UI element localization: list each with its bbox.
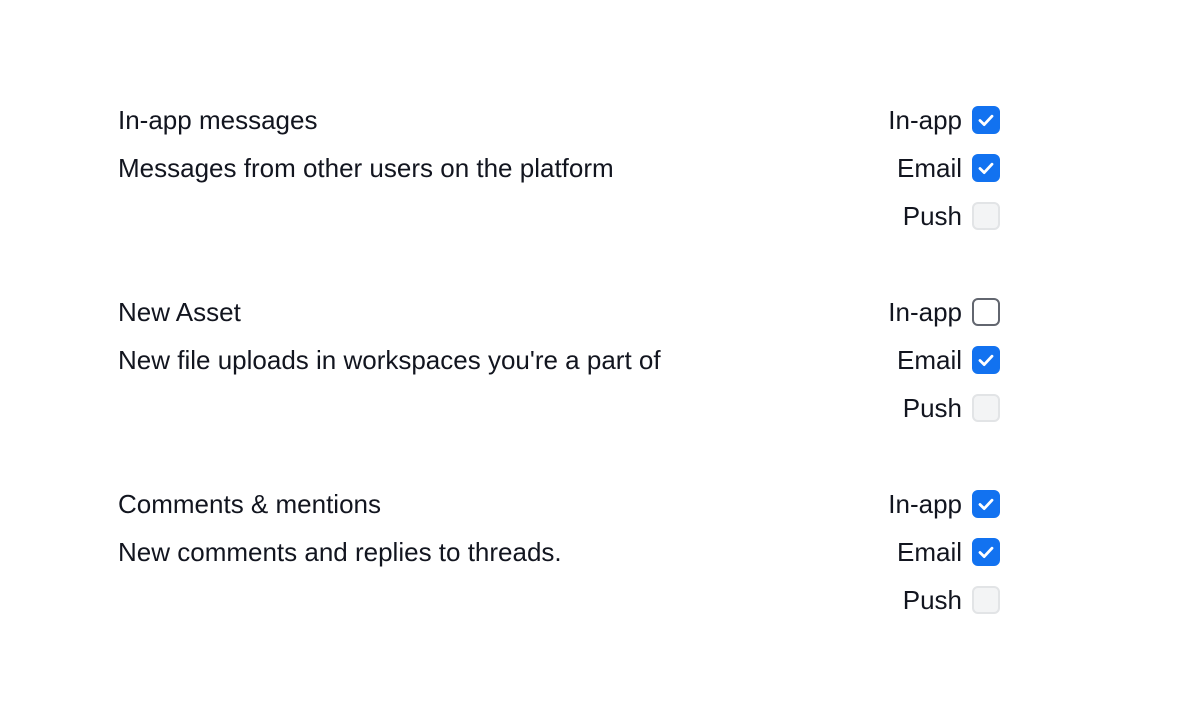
channel-checkbox-push[interactable] — [972, 202, 1000, 230]
channel-checkbox-email[interactable] — [972, 154, 1000, 182]
channel-checkbox-push[interactable] — [972, 586, 1000, 614]
channel-row: Push — [903, 192, 1000, 240]
channel-checkbox-email[interactable] — [972, 538, 1000, 566]
channel-label: Push — [903, 384, 962, 432]
channel-row: In-app — [888, 96, 1000, 144]
channel-label: Email — [897, 336, 962, 384]
channel-row: Email — [897, 336, 1000, 384]
checkmark-icon — [976, 350, 996, 370]
channel-label: Push — [903, 192, 962, 240]
channel-label: Email — [897, 528, 962, 576]
preference-description: Messages from other users on the platfor… — [118, 144, 614, 192]
channel-checkbox-in-app[interactable] — [972, 106, 1000, 134]
preference-text: New Asset New file uploads in workspaces… — [118, 288, 661, 384]
checkmark-icon — [976, 158, 996, 178]
channel-row: Push — [903, 384, 1000, 432]
preference-description: New comments and replies to threads. — [118, 528, 562, 576]
channel-label: In-app — [888, 288, 962, 336]
preference-title: Comments & mentions — [118, 480, 562, 528]
channel-list: In-app Email Push — [888, 480, 1000, 624]
channel-list: In-app Email Push — [888, 96, 1000, 240]
preference-description: New file uploads in workspaces you're a … — [118, 336, 661, 384]
checkmark-icon — [976, 542, 996, 562]
channel-label: Push — [903, 576, 962, 624]
channel-checkbox-email[interactable] — [972, 346, 1000, 374]
preference-text: Comments & mentions New comments and rep… — [118, 480, 562, 576]
preference-group: In-app messages Messages from other user… — [118, 96, 1000, 240]
preference-title: In-app messages — [118, 96, 614, 144]
channel-row: In-app — [888, 288, 1000, 336]
channel-checkbox-in-app[interactable] — [972, 298, 1000, 326]
channel-label: In-app — [888, 96, 962, 144]
channel-checkbox-push[interactable] — [972, 394, 1000, 422]
channel-row: In-app — [888, 480, 1000, 528]
preference-text: In-app messages Messages from other user… — [118, 96, 614, 192]
channel-list: In-app Email Push — [888, 288, 1000, 432]
preference-group: New Asset New file uploads in workspaces… — [118, 288, 1000, 432]
preference-group: Comments & mentions New comments and rep… — [118, 480, 1000, 624]
preference-title: New Asset — [118, 288, 661, 336]
channel-label: Email — [897, 144, 962, 192]
channel-row: Push — [903, 576, 1000, 624]
channel-checkbox-in-app[interactable] — [972, 490, 1000, 518]
checkmark-icon — [976, 494, 996, 514]
channel-label: In-app — [888, 480, 962, 528]
notification-preferences-panel: In-app messages Messages from other user… — [0, 0, 1184, 714]
checkmark-icon — [976, 110, 996, 130]
channel-row: Email — [897, 144, 1000, 192]
channel-row: Email — [897, 528, 1000, 576]
